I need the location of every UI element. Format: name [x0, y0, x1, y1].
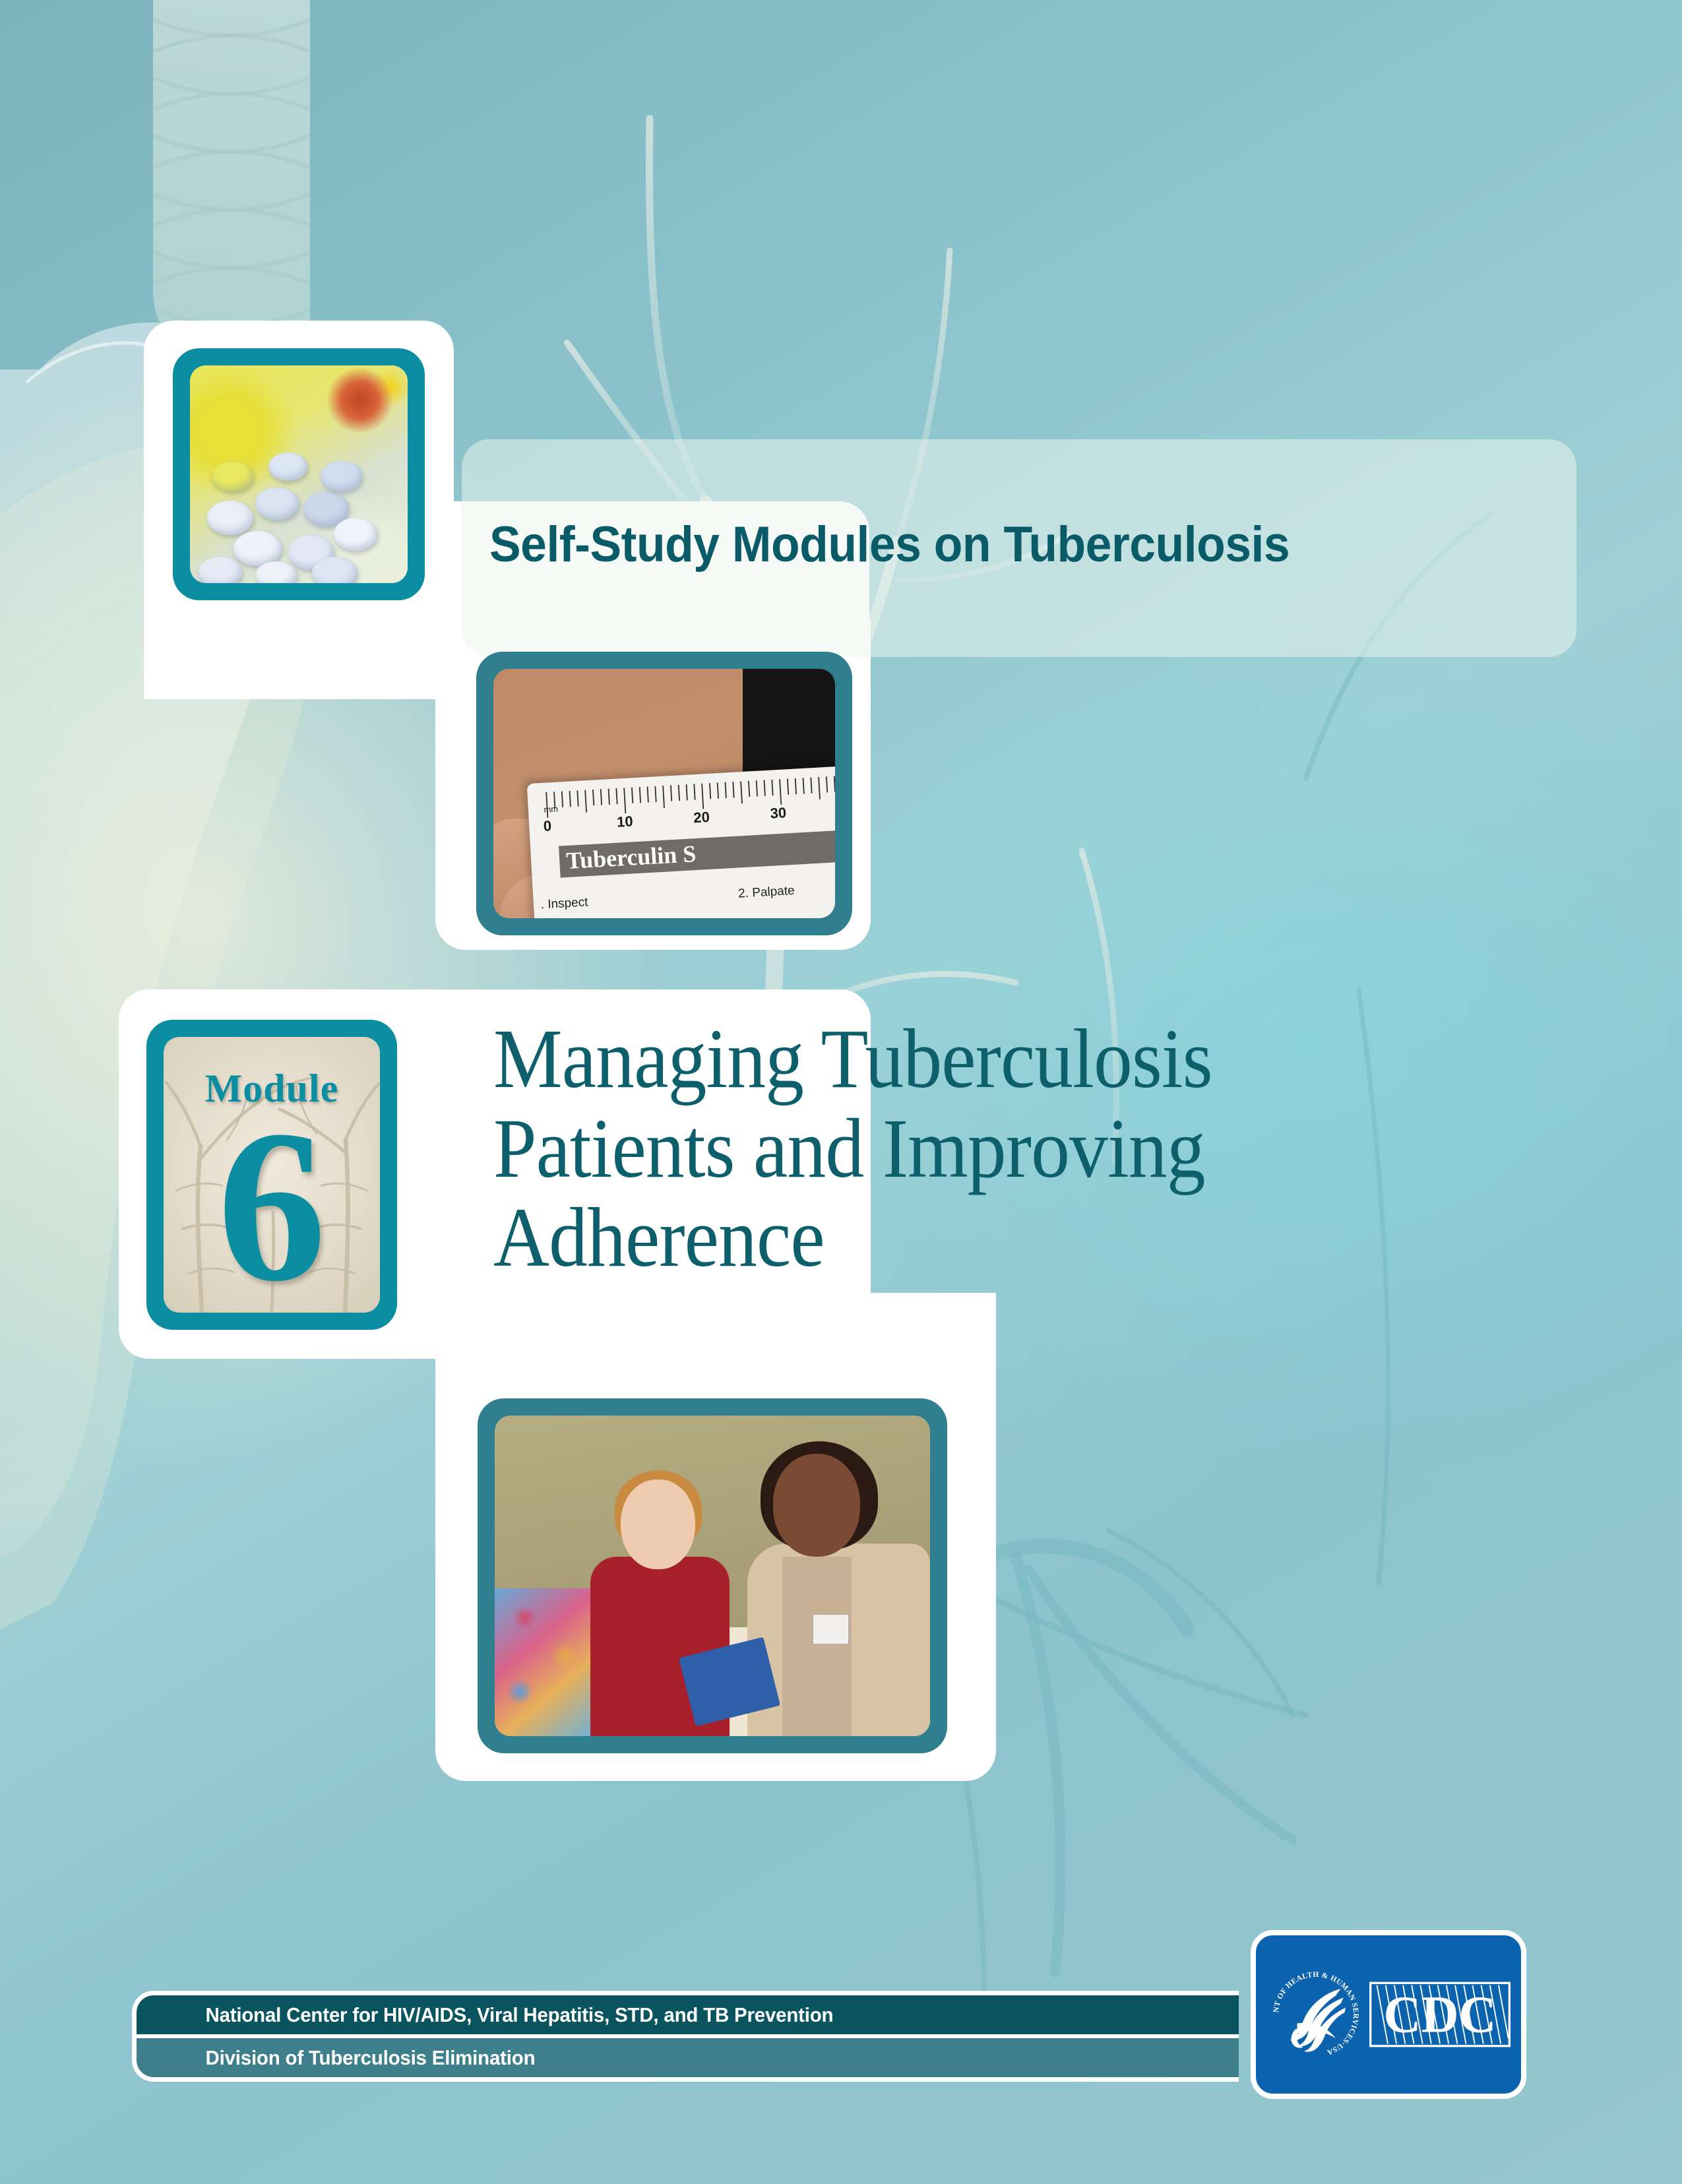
pills-photo: [190, 365, 408, 583]
ruler-tick-0: 0: [543, 817, 552, 835]
consult-photo-frame: [478, 1398, 947, 1753]
module-number-value: 6: [164, 1098, 380, 1313]
module-number-badge: Module 6: [146, 1020, 397, 1330]
pills-photo-frame: [173, 348, 425, 600]
ruler-ticks: [542, 772, 835, 823]
patient-head-shape: [621, 1480, 695, 1569]
tuberculin-photo-frame: mm 0 10 20 30 40 Tuberculin S . Inspect …: [476, 652, 852, 935]
footer-division-banner: Division of Tuberculosis Elimination: [132, 2038, 1239, 2082]
title-line-3: Adherence: [493, 1193, 1501, 1283]
consult-photo-image: [495, 1416, 930, 1736]
ruler-tick-10: 10: [616, 813, 633, 830]
footer-division-label: Division of Tuberculosis Elimination: [137, 2046, 535, 2070]
card-title-band: Tuberculin S: [559, 828, 835, 878]
bronchial-tree-lower-graphic: [937, 515, 1491, 2071]
module-badge-inner: Module 6: [164, 1037, 380, 1313]
photo-shadow-area: [743, 669, 835, 774]
hhs-seal-icon: DEPARTMENT OF HEALTH & HUMAN SERVICES·US…: [1266, 1965, 1365, 2064]
title-line-1: Managing Tuberculosis: [493, 1014, 1501, 1104]
cdc-wordmark-text: CDC: [1383, 1986, 1496, 2044]
card-step-labels: . Inspect 2. Palpate: [540, 879, 835, 898]
quilt-shape: [495, 1588, 595, 1736]
ruler-tick-20: 20: [693, 809, 710, 827]
hhs-bird-glyph: [1290, 1989, 1346, 2052]
cdc-wordmark-icon: CDC: [1369, 1973, 1511, 2056]
ruler-unit-label: mm: [544, 804, 558, 815]
worker-blouse-shape: [782, 1557, 852, 1736]
pills-photo-image: [190, 365, 408, 583]
consult-photo: [495, 1416, 930, 1736]
footer-center-banner: National Center for HIV/AIDS, Viral Hepa…: [132, 1991, 1239, 2034]
card-step-1: . Inspect: [540, 895, 588, 912]
series-title: Self-Study Modules on Tuberculosis: [489, 516, 1456, 573]
tuberculin-photo-image: mm 0 10 20 30 40 Tuberculin S . Inspect …: [493, 669, 835, 918]
footer-center-label: National Center for HIV/AIDS, Viral Hepa…: [137, 2003, 833, 2027]
worker-head-shape: [773, 1454, 860, 1557]
ruler-tick-30: 30: [770, 804, 787, 822]
title-line-2: Patients and Improving: [493, 1104, 1501, 1194]
card-title-text: Tuberculin S: [559, 830, 835, 873]
tuberculin-photo: mm 0 10 20 30 40 Tuberculin S . Inspect …: [493, 669, 835, 918]
ruler-card: mm 0 10 20 30 40 Tuberculin S . Inspect …: [527, 764, 835, 918]
cdc-logo: DEPARTMENT OF HEALTH & HUMAN SERVICES·US…: [1251, 1930, 1526, 2099]
card-step-2: 2. Palpate: [738, 884, 795, 902]
page-title: Managing Tuberculosis Patients and Impro…: [493, 1014, 1501, 1283]
id-badge-shape: [813, 1614, 849, 1644]
cover-page: Self-Study Modules on Tuberculosis: [0, 0, 1682, 2184]
